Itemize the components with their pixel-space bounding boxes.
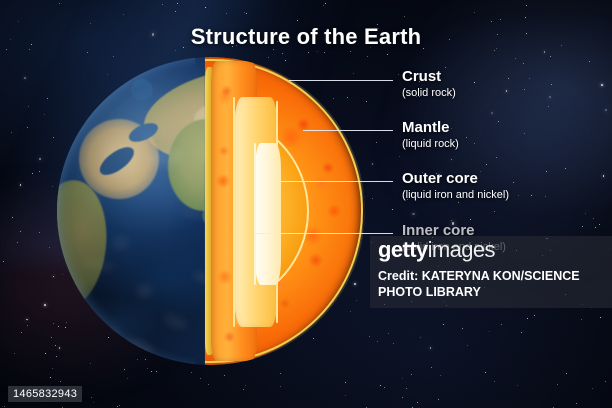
getty-logo-light: images xyxy=(428,237,495,262)
label-mantle-name: Mantle xyxy=(402,120,459,136)
asset-id-badge: 1465832943 xyxy=(8,386,82,402)
label-mantle: Mantle (liquid rock) xyxy=(402,120,459,151)
earth-structure-illustration: Structure of the Earth Crust (solid rock… xyxy=(0,0,612,408)
earth-globe xyxy=(57,57,365,365)
getty-logo: gettyimages xyxy=(378,239,495,261)
label-outer-core-name: Outer core xyxy=(402,171,509,187)
leader-line-inner-core xyxy=(254,233,393,234)
leader-line-crust xyxy=(289,80,393,81)
label-crust-detail: (solid rock) xyxy=(402,87,456,100)
credit-text: Credit: KATERYNA KON/SCIENCE PHOTO LIBRA… xyxy=(378,268,606,300)
label-crust-name: Crust xyxy=(402,69,456,85)
outer-core-edge-left xyxy=(233,97,235,327)
leader-line-outer-core xyxy=(276,181,393,182)
label-outer-core: Outer core (liquid iron and nickel) xyxy=(402,171,509,202)
getty-watermark: gettyimages Credit: KATERYNA KON/SCIENCE… xyxy=(370,236,612,308)
inner-core-cut-face xyxy=(255,143,281,285)
page-title: Structure of the Earth xyxy=(0,24,612,50)
leader-line-mantle xyxy=(303,130,393,131)
label-mantle-detail: (liquid rock) xyxy=(402,138,459,151)
label-crust: Crust (solid rock) xyxy=(402,69,456,100)
label-outer-core-detail: (liquid iron and nickel) xyxy=(402,189,509,202)
getty-logo-bold: getty xyxy=(378,237,428,262)
inner-core-edge xyxy=(254,143,256,285)
